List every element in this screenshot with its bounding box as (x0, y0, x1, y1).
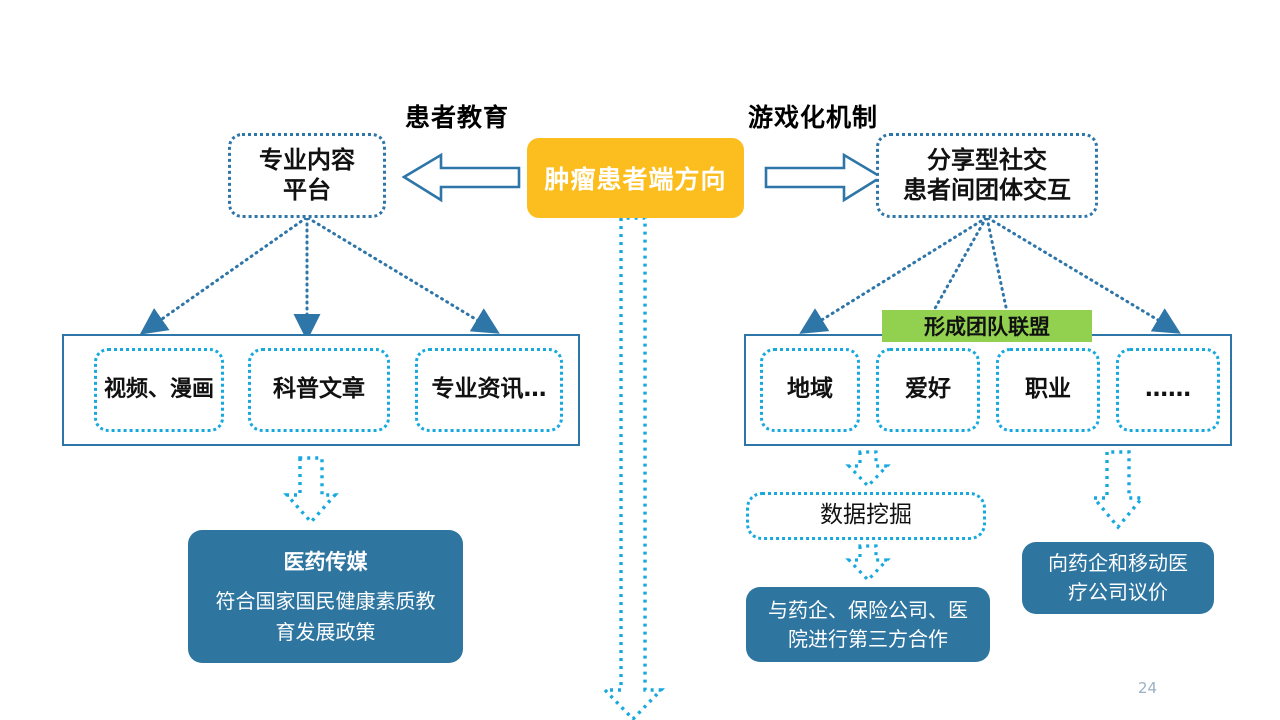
conclusion-pricing-negotiation[interactable]: 向药企和移动医 疗公司议价 (1022, 542, 1214, 614)
right-item-more[interactable]: …… (1116, 348, 1220, 432)
node-line-1: 专业内容 (259, 146, 355, 175)
left-item-video-comic[interactable]: 视频、漫画 (94, 348, 224, 432)
right-item-hobby[interactable]: 爱好 (876, 348, 980, 432)
pricing-down-dotted-arrow (1094, 452, 1142, 527)
left-down-dotted-arrow (287, 458, 335, 522)
left-block-arrow (404, 155, 519, 200)
conclusion-line-2: 疗公司议价 (1068, 578, 1168, 607)
conclusion-line-1: 符合国家国民健康素质教 (216, 586, 436, 617)
conclusion-third-party-cooperation[interactable]: 与药企、保险公司、医 院进行第三方合作 (746, 587, 990, 662)
conclusion-line-1: 与药企、保险公司、医 (768, 596, 968, 625)
conclusion-pharma-media[interactable]: 医药传媒 符合国家国民健康素质教 育发展政策 (188, 530, 463, 663)
center-down-dotted-arrow (605, 218, 661, 719)
heading-patient-education: 患者教育 (405, 98, 509, 134)
mining-down-dotted-arrow (849, 452, 887, 486)
node-line-1: 分享型社交 (927, 146, 1047, 175)
node-professional-content-platform[interactable]: 专业内容 平台 (228, 133, 386, 218)
conclusion-line-1: 向药企和移动医 (1048, 549, 1188, 578)
node-data-mining[interactable]: 数据挖掘 (746, 492, 986, 540)
node-line-2: 平台 (283, 176, 331, 205)
partnership-down-dotted-arrow (849, 546, 887, 580)
page-number: 24 (1138, 679, 1157, 697)
label-form-team-alliance: 形成团队联盟 (882, 310, 1092, 342)
right-item-region[interactable]: 地域 (760, 348, 860, 432)
left-item-professional-info[interactable]: 专业资讯… (415, 348, 563, 432)
conclusion-line-2: 院进行第三方合作 (788, 625, 948, 654)
node-line-2: 患者间团体交互 (903, 176, 1071, 205)
heading-gamification: 游戏化机制 (748, 98, 878, 134)
conclusion-line-2: 育发展政策 (276, 617, 376, 648)
conclusion-title: 医药传媒 (284, 546, 368, 576)
node-social-sharing-group[interactable]: 分享型社交 患者间团体交互 (876, 133, 1098, 218)
left-item-science-article[interactable]: 科普文章 (248, 348, 390, 432)
right-block-arrow (766, 155, 881, 200)
right-item-occupation[interactable]: 职业 (996, 348, 1100, 432)
center-direction-badge[interactable]: 肿瘤患者端方向 (527, 138, 744, 218)
left-fan-connectors (152, 218, 487, 326)
slide-canvas: 患者教育 游戏化机制 肿瘤患者端方向 专业内容 平台 分享型社交 患者间团体交互… (0, 0, 1280, 720)
